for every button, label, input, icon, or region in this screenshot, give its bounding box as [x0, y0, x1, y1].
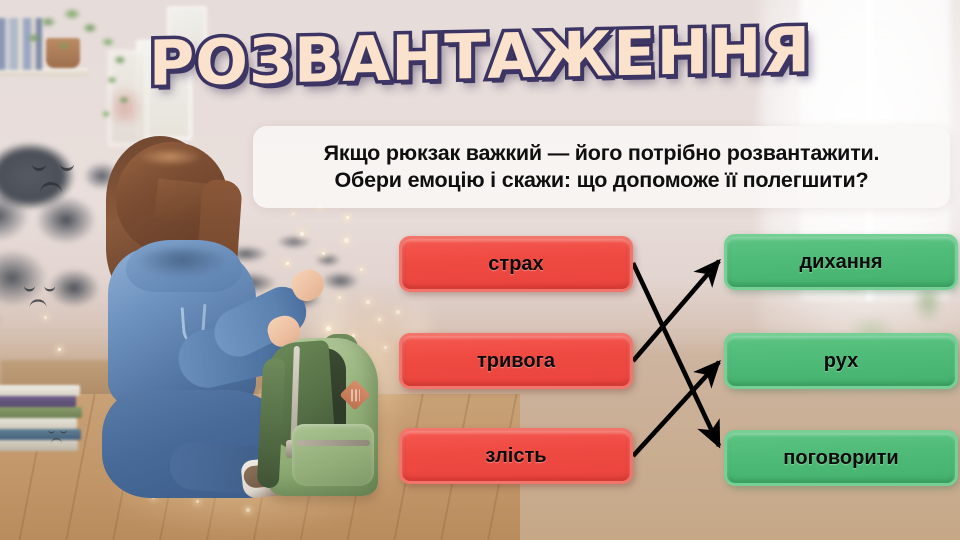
arrow-anger-to-movement: [633, 362, 719, 456]
emotion-card-anxiety[interactable]: тривога: [399, 333, 633, 389]
arrow-fear-to-talking: [633, 263, 719, 446]
arrow-anxiety-to-breathing: [633, 261, 719, 361]
helper-card-movement[interactable]: рух: [724, 333, 958, 389]
helper-card-breathing[interactable]: дихання: [724, 234, 958, 290]
slide-canvas: РОЗВАНТАЖЕННЯ Якщо рюкзак важкий — його …: [0, 0, 960, 540]
emotion-card-anger[interactable]: злість: [399, 428, 633, 484]
emotion-card-fear[interactable]: страх: [399, 236, 633, 292]
helper-card-talking[interactable]: поговорити: [724, 430, 958, 486]
